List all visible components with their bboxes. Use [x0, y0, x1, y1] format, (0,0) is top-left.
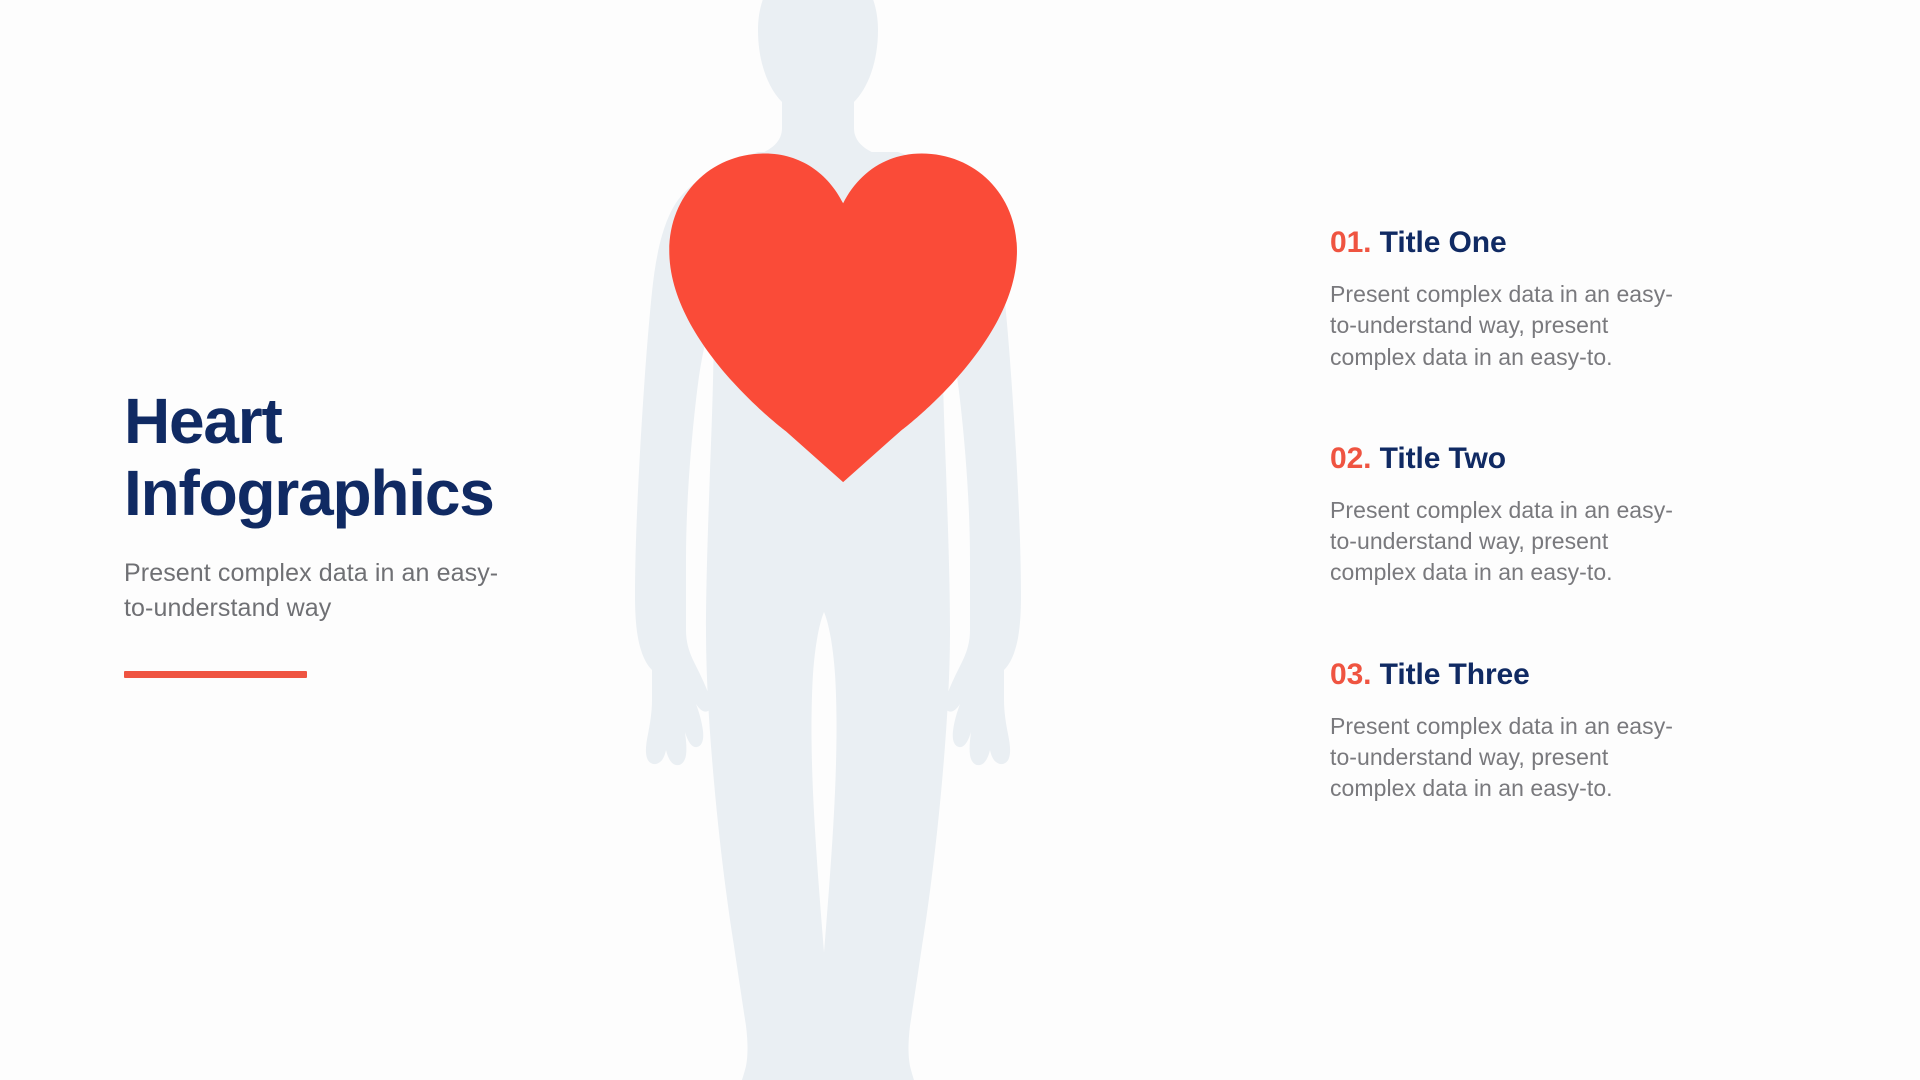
item-title: Title Three [1380, 658, 1530, 691]
infographic-slide: Heart Infographics Present complex data … [0, 0, 1920, 1080]
item-list: 01. Title One Present complex data in an… [1330, 225, 1800, 804]
list-item: 02. Title Two Present complex data in an… [1330, 441, 1800, 589]
page-subtitle: Present complex data in an easy- to-unde… [124, 556, 644, 627]
human-body-silhouette-svg [630, 0, 1110, 1080]
item-heading: 02. Title Two [1330, 441, 1800, 477]
item-body-text: Present complex data in an easy- to-unde… [1330, 279, 1800, 373]
item-number: 02. [1330, 442, 1371, 475]
list-item: 01. Title One Present complex data in an… [1330, 225, 1800, 373]
title-block: Heart Infographics Present complex data … [124, 385, 644, 678]
item-title: Title Two [1380, 442, 1506, 475]
figure-illustration [630, 0, 1110, 1080]
item-number: 03. [1330, 658, 1371, 691]
human-body-silhouette [635, 0, 1021, 1080]
item-number: 01. [1330, 226, 1371, 259]
item-title: Title One [1380, 226, 1507, 259]
item-heading: 01. Title One [1330, 225, 1800, 261]
accent-rule-divider [124, 671, 307, 678]
page-title: Heart Infographics [124, 385, 644, 530]
list-item: 03. Title Three Present complex data in … [1330, 657, 1800, 805]
item-body-text: Present complex data in an easy- to-unde… [1330, 711, 1800, 805]
item-heading: 03. Title Three [1330, 657, 1800, 693]
item-body-text: Present complex data in an easy- to-unde… [1330, 495, 1800, 589]
